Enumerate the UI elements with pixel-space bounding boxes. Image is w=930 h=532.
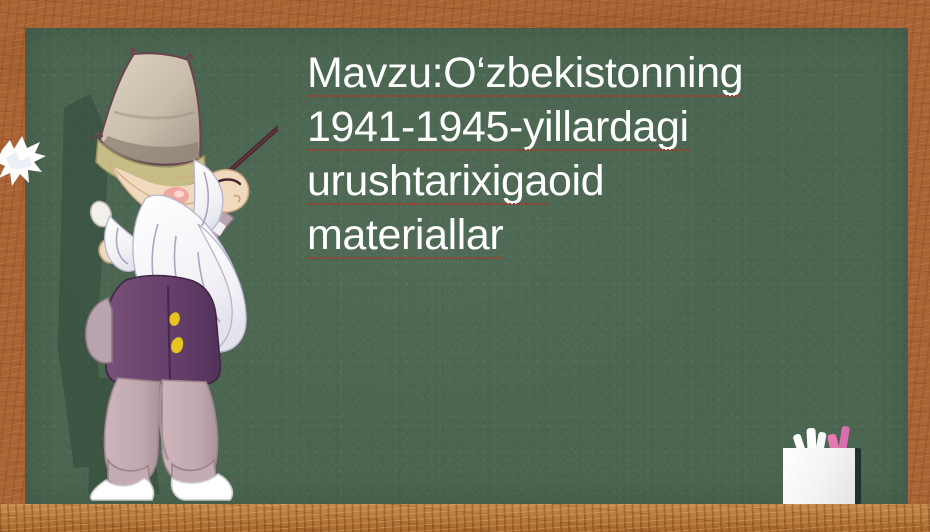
chalk-tray: [783, 424, 865, 504]
pointer-stick: [224, 110, 278, 176]
title-line-3: urush tarixiga oid: [307, 154, 867, 208]
title-run-misspelled: 1941-1945-yillardagi: [307, 100, 689, 154]
slide-canvas: Mavzu:O‘zbekistonning 1941-1945-yillarda…: [0, 0, 930, 532]
wizard-vest: [86, 276, 221, 385]
wizard-teacher-illustration: [48, 48, 278, 504]
title-run-misspelled: materiallar: [307, 208, 503, 262]
title-line-2: 1941-1945-yillardagi: [307, 100, 867, 154]
wizard-trousers: [105, 378, 218, 489]
slide-title: Mavzu:O‘zbekistonning 1941-1945-yillarda…: [307, 46, 867, 262]
wooden-ledge: [0, 504, 930, 532]
title-line-4: materiallar: [307, 208, 867, 262]
chalk-tray-box: [783, 448, 855, 504]
title-run-plain: oid: [548, 154, 604, 208]
title-run-misspelled: Mavzu:O‘zbekistonning: [307, 46, 743, 100]
title-run-misspelled: tarixiga: [413, 154, 548, 208]
title-line-1: Mavzu:O‘zbekistonning: [307, 46, 867, 100]
title-run-misspelled: urush: [307, 154, 413, 208]
